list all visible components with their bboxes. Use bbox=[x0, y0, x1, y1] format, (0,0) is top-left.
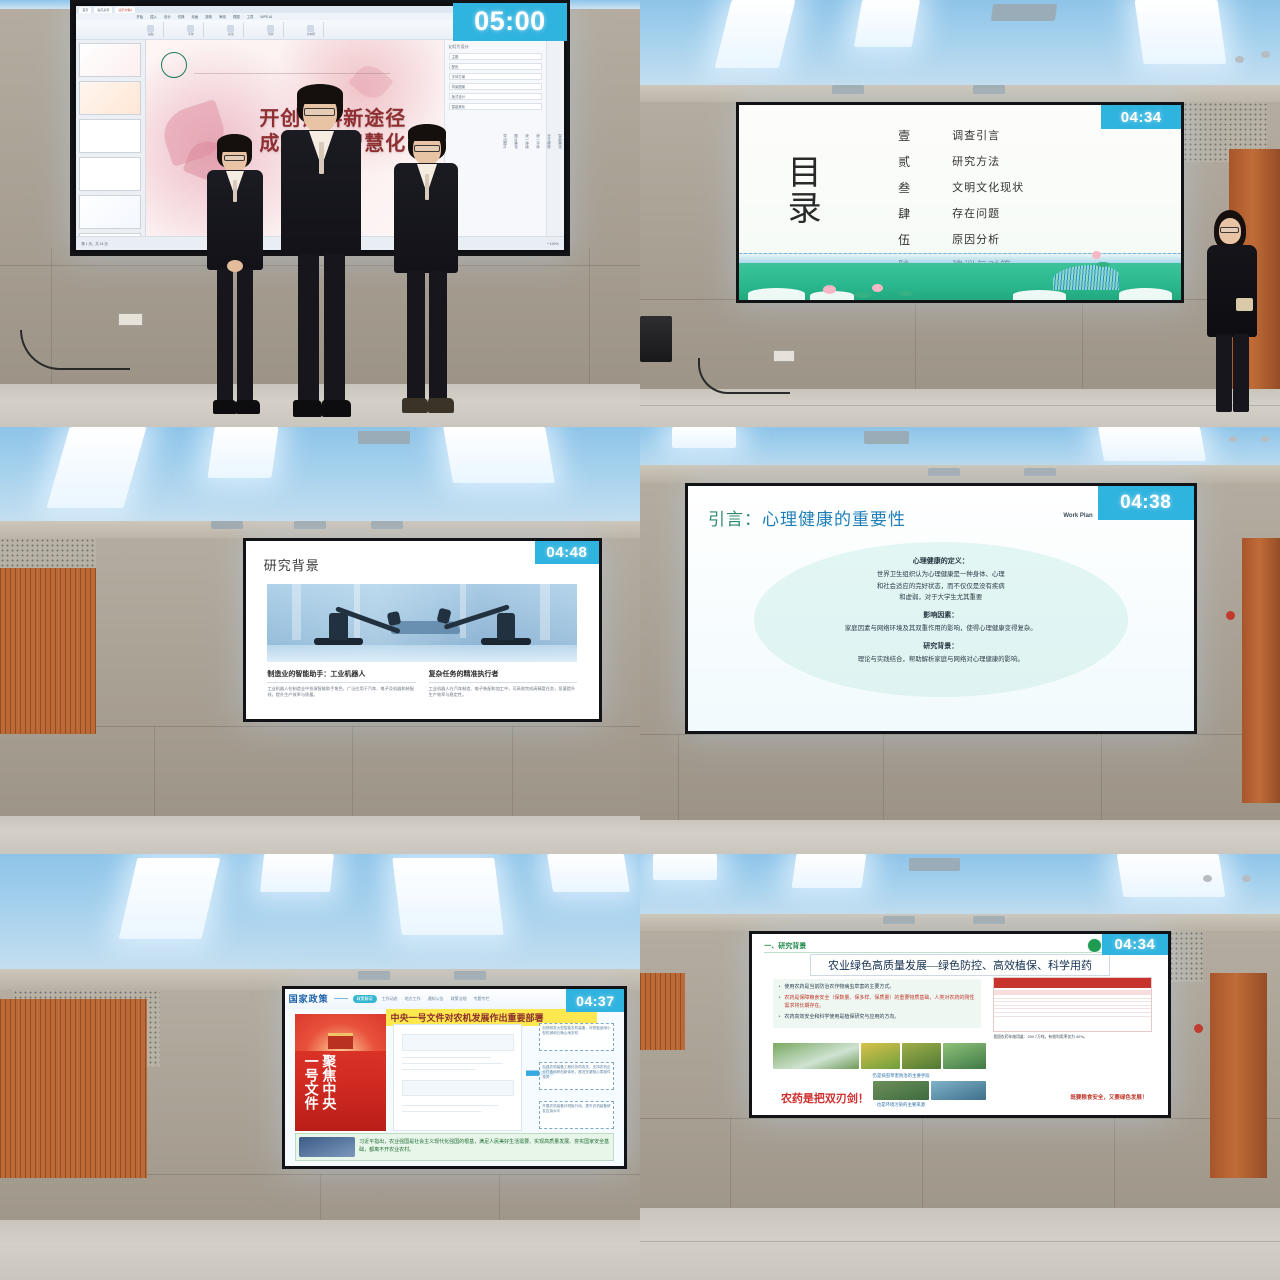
rail-item[interactable]: 导出图片 bbox=[504, 134, 509, 148]
ribbon-tab-2[interactable]: 设计 bbox=[164, 14, 171, 19]
policy-note: 开展农机装备补短板行动，提升农机装备研发应用水平 bbox=[539, 1101, 614, 1129]
mental-health-slide: 引言：心理健康的重要性 Work Plan 2025 心理健康的定义： 世界卫生… bbox=[688, 486, 1194, 732]
countdown-timer: 05:00 bbox=[453, 3, 566, 41]
agenda-text: 原因分析 bbox=[952, 231, 1000, 247]
leader-photo bbox=[299, 1137, 355, 1157]
institute-logo-icon bbox=[1087, 938, 1102, 953]
section-line: 和社会适应的完好状态，而不仅仅是没有疾病 bbox=[738, 581, 1143, 592]
panel-5-national-policy-slide: 国家政策 政策解读 工作动态 地方工作 通知公告 政策法规 专题专栏 中央一号文… bbox=[0, 854, 640, 1280]
agenda-item: 伍 原因分析 bbox=[898, 231, 1137, 248]
agenda-slide: 目录 壹 调查引言 贰 研究方法 叁 文明文化现状 bbox=[739, 105, 1181, 300]
policy-note: 加强农机装备工程化协同攻关，支持农机企业打造科研创新体系，推进关键核心零部件攻关 bbox=[539, 1062, 614, 1090]
ribbon-group-5[interactable]: 文本框 bbox=[298, 22, 324, 38]
slide-thumbnail[interactable] bbox=[79, 81, 141, 115]
shape-icon bbox=[267, 25, 274, 32]
projection-screen: 目录 壹 调查引言 贰 研究方法 叁 文明文化现状 bbox=[736, 102, 1184, 303]
projection-screen: 国家政策 政策解读 工作动态 地方工作 通知公告 政策法规 专题专栏 中央一号文… bbox=[282, 986, 628, 1169]
projection-screen: 研究背景 bbox=[243, 538, 601, 722]
door[interactable] bbox=[1210, 973, 1268, 1177]
presenter-right-side bbox=[1206, 210, 1258, 415]
paper-in-hand bbox=[1236, 298, 1253, 311]
paste-icon bbox=[147, 25, 154, 32]
nav-item: 政策法规 bbox=[451, 996, 467, 1002]
university-seal-icon bbox=[161, 52, 187, 78]
agenda-num: 伍 bbox=[898, 231, 952, 248]
presenter-right bbox=[392, 124, 462, 424]
caption-right: 复杂任务的精准执行者 工业机器人在汽车制造、电子装配和加工中，可高效完成高精度任… bbox=[429, 669, 578, 699]
ppt-tab-2[interactable]: 演示文稿1 bbox=[115, 7, 135, 13]
agenda-heading: 目录 bbox=[788, 156, 824, 227]
caption-left: 制造业的智能助手：工业机器人 工业机器人在制造业中扮演智能助手角色，广泛应用于汽… bbox=[267, 669, 416, 699]
textbox-icon bbox=[307, 25, 314, 32]
agenda-item: 叁 文明文化现状 bbox=[898, 179, 1137, 196]
countdown-timer: 04:38 bbox=[1098, 486, 1194, 520]
countdown-timer: 04:34 bbox=[1101, 105, 1181, 128]
corner-label: Work Plan bbox=[1063, 513, 1092, 519]
slide-title: 农业绿色高质量发展—绿色防控、高效植保、科学用药 bbox=[810, 954, 1110, 976]
glasses-icon bbox=[414, 145, 440, 152]
agenda-text: 文明文化现状 bbox=[952, 179, 1024, 195]
mountain-decor bbox=[1053, 265, 1119, 290]
presenter-center bbox=[281, 84, 361, 427]
ribbon-tab-10[interactable]: WPS AI bbox=[260, 15, 272, 19]
rail-item[interactable]: 全文换肤 bbox=[548, 134, 553, 148]
ribbon-group-1-label: 字体 bbox=[188, 32, 194, 36]
door[interactable] bbox=[1242, 538, 1280, 803]
slogan-text: 既要粮食安全，又要绿色发展！ bbox=[1070, 1093, 1147, 1101]
wall-outlet bbox=[118, 313, 143, 326]
countdown-timer: 04:37 bbox=[566, 989, 624, 1012]
ribbon-group-0[interactable]: 粘贴 bbox=[138, 22, 164, 38]
ribbon-group-0-label: 粘贴 bbox=[148, 32, 154, 36]
slide-body: 心理健康的定义： 世界卫生组织认为心理健康是一种身体、心理 和社会适应的完好状态… bbox=[738, 549, 1143, 665]
projection-screen: 一、研究背景 农业绿色高质量发展—绿色防控、高效植保、科学用药 •使用农药是当前… bbox=[749, 931, 1171, 1118]
wood-wall-panel bbox=[0, 999, 147, 1178]
agenda-item: 壹 调查引言 bbox=[898, 127, 1137, 144]
design-pane-row[interactable]: 版式设计 bbox=[449, 93, 542, 100]
ribbon-tab-5[interactable]: 放映 bbox=[205, 14, 212, 19]
policy-note: 加快研发大型智能农机装备，补短板适用小型机械和丘陵山地农机 bbox=[539, 1023, 614, 1051]
header-nav: 工作动态 地方工作 通知公告 政策法规 专题专栏 bbox=[382, 996, 490, 1002]
bullet-list: •使用农药是当前防治农作物病虫草害的主要方式。 •农药是保障粮食安全（保数量、保… bbox=[773, 979, 981, 1028]
rail-item[interactable]: 智能美化 bbox=[559, 134, 564, 148]
section-heading: 心理健康的定义： bbox=[738, 556, 1143, 566]
design-pane-row[interactable]: 字体方案 bbox=[449, 73, 542, 80]
robot-photo bbox=[267, 584, 577, 662]
slide-thumbnail[interactable] bbox=[79, 43, 141, 77]
agenda-text: 研究方法 bbox=[952, 153, 1000, 169]
bullet-item: •农药是保障粮食安全（保数量、保多样、保质量）的重要物质基础，人类对农药的刚性需… bbox=[779, 994, 975, 1010]
section-line: 理论与实践结合，帮助解析家庭与网络对心理健康的影响。 bbox=[738, 654, 1143, 665]
slide-header: 一、研究背景 bbox=[764, 941, 806, 951]
slide-title-prefix: 引言： bbox=[708, 510, 762, 529]
ribbon-tab-6[interactable]: 审阅 bbox=[219, 14, 226, 19]
data-table-image bbox=[993, 977, 1151, 1031]
panel-6-green-agriculture-slide: 一、研究背景 农业绿色高质量发展—绿色防控、高效植保、科学用药 •使用农药是当前… bbox=[640, 854, 1280, 1280]
ribbon-group-2[interactable]: 段落 bbox=[218, 22, 244, 38]
tiananmen-icon bbox=[328, 1033, 354, 1049]
ribbon-tab-8[interactable]: 工具 bbox=[247, 14, 254, 19]
ribbon-group-2-label: 段落 bbox=[228, 32, 234, 36]
green-agriculture-slide: 一、研究背景 农业绿色高质量发展—绿色防控、高效植保、科学用药 •使用农药是当前… bbox=[752, 934, 1168, 1115]
bullet-item: •农药高效安全和科学使用是植保研究与应用的方向。 bbox=[779, 1013, 975, 1021]
nav-item: 专题专栏 bbox=[474, 996, 490, 1002]
agenda-num: 壹 bbox=[898, 127, 952, 144]
bullet-item: •使用农药是当前防治农作物病虫草害的主要方式。 bbox=[779, 983, 975, 991]
caption-row: 制造业的智能助手：工业机器人 工业机器人在制造业中扮演智能助手角色，广泛应用于汽… bbox=[267, 669, 577, 699]
document-preview bbox=[393, 1024, 522, 1130]
design-pane-row[interactable]: 背景图案 bbox=[449, 83, 542, 90]
photo-grid: 首页 稻壳资源 演示文稿1 开始 插入 设计 切换 动画 放映 审阅 视图 工具 bbox=[0, 0, 1280, 1280]
ribbon-group-1[interactable]: 字体 bbox=[178, 22, 204, 38]
panel-1-team-cover-slide: 首页 稻壳资源 演示文稿1 开始 插入 设计 切换 动画 放映 审阅 视图 工具 bbox=[0, 0, 640, 427]
water-line-decor bbox=[739, 253, 1181, 263]
slide-brand: 国家政策 bbox=[289, 992, 329, 1005]
speaker-cabinet bbox=[640, 316, 672, 362]
bullet-text: 使用农药是当前防治农作物病虫草害的主要方式。 bbox=[784, 983, 894, 991]
emergency-button-icon bbox=[1226, 611, 1235, 620]
pollution-photo bbox=[873, 1081, 929, 1100]
caption-body: 工业机器人在制造业中扮演智能助手角色，广泛应用于汽车、电子及机器和装配线，提升生… bbox=[267, 686, 416, 699]
header-pill: 政策解读 bbox=[353, 995, 377, 1003]
agenda-item: 贰 研究方法 bbox=[898, 153, 1137, 170]
paragraph-icon bbox=[227, 25, 234, 32]
nav-item: 通知公告 bbox=[428, 996, 444, 1002]
ribbon-tab-7[interactable]: 视图 bbox=[233, 14, 240, 19]
policy-footer: 习近平指出，农业强国是社会主义现代化强国的根基，满足人民美好生活需要、实现高质量… bbox=[295, 1133, 614, 1161]
projection-screen: 引言：心理健康的重要性 Work Plan 2025 心理健康的定义： 世界卫生… bbox=[685, 483, 1197, 735]
glasses-icon bbox=[224, 155, 245, 161]
ribbon-group-3-label: 形状 bbox=[268, 32, 274, 36]
poster-text-1: 聚焦中央 bbox=[322, 1054, 337, 1110]
ppt-tab-1[interactable]: 稻壳资源 bbox=[94, 7, 112, 13]
status-zoom[interactable]: + 100% bbox=[547, 242, 559, 246]
status-page: 第 1 页，共 18 页 bbox=[81, 241, 107, 246]
section-heading: 研究背景： bbox=[738, 641, 1143, 651]
agenda-num: 叁 bbox=[898, 179, 952, 196]
ribbon-group-3[interactable]: 形状 bbox=[258, 22, 284, 38]
panel-3-research-background-slide: 研究背景 bbox=[0, 427, 640, 854]
slide-thumbnail[interactable] bbox=[79, 157, 141, 191]
usage-note: 我国农药年施用量：250.7万吨，有效利用率仅为 40%。 bbox=[993, 1035, 1151, 1040]
slide-title: 研究背景 bbox=[264, 555, 320, 574]
ppt-tab-0[interactable]: 首页 bbox=[79, 7, 91, 13]
crop-photo bbox=[943, 1043, 986, 1069]
policy-poster: 一号文件 聚焦中央 bbox=[295, 1014, 387, 1131]
ribbon-group-5-label: 文本框 bbox=[307, 32, 315, 36]
wood-wall-panel bbox=[640, 973, 685, 1050]
agenda-num: 肆 bbox=[898, 205, 952, 222]
national-policy-slide: 国家政策 政策解读 工作动态 地方工作 通知公告 政策法规 专题专栏 中央一号文… bbox=[285, 989, 625, 1166]
caption-body: 工业机器人在汽车制造、电子装配和加工中，可高效完成高精度任务，显著提升生产效率与… bbox=[429, 686, 578, 699]
bullet-text: 农药高效安全和科学使用是植保研究与应用的方向。 bbox=[784, 1013, 899, 1021]
ribbon-tab-0[interactable]: 开始 bbox=[136, 14, 143, 19]
caption-heading: 复杂任务的精准执行者 bbox=[429, 669, 578, 679]
water-photo bbox=[931, 1081, 987, 1100]
countdown-timer: 04:34 bbox=[1102, 934, 1169, 956]
spray-photo bbox=[773, 1043, 860, 1069]
design-pane-row[interactable]: 配色 bbox=[449, 63, 542, 70]
ribbon-tab-1[interactable]: 插入 bbox=[150, 14, 157, 19]
design-pane-title: 幻灯片设计 bbox=[449, 44, 542, 50]
font-icon bbox=[187, 25, 194, 32]
agenda-num: 贰 bbox=[898, 153, 952, 170]
section-heading: 影响因素： bbox=[738, 610, 1143, 620]
rail-item[interactable]: 统一字体 bbox=[537, 134, 542, 148]
agenda-text: 存在问题 bbox=[952, 205, 1000, 221]
photo-strip bbox=[773, 1043, 990, 1069]
research-background-slide: 研究背景 bbox=[246, 541, 598, 719]
nav-item: 地方工作 bbox=[405, 996, 421, 1002]
ribbon-tab-4[interactable]: 动画 bbox=[192, 14, 199, 19]
panel-4-mental-health-slide: 引言：心理健康的重要性 Work Plan 2025 心理健康的定义： 世界卫生… bbox=[640, 427, 1280, 854]
poster-text: 一号文件 聚焦中央 bbox=[304, 1054, 377, 1110]
rail-item[interactable]: 统一排版 bbox=[526, 134, 531, 148]
photo-caption: 仍是病虫草害防治的主要手段 bbox=[873, 1073, 930, 1079]
slide-thumbnail[interactable] bbox=[79, 119, 141, 153]
section-line: 家庭因素与网络环境及其双重作用的影响，使得心理健康变得复杂。 bbox=[738, 623, 1143, 634]
presenter-left bbox=[203, 134, 267, 424]
rail-item[interactable]: 图片美化 bbox=[515, 134, 520, 148]
poster-text-0: 一号文件 bbox=[304, 1054, 319, 1110]
pest-photo bbox=[861, 1043, 900, 1069]
nav-item: 工作动态 bbox=[382, 996, 398, 1002]
wood-wall-panel bbox=[0, 568, 96, 735]
agenda-item: 肆 存在问题 bbox=[898, 205, 1137, 222]
countdown-timer: 04:48 bbox=[535, 541, 598, 564]
design-pane-row[interactable]: 主题 bbox=[449, 53, 542, 60]
glasses-icon bbox=[1220, 227, 1239, 233]
slide-thumbnail-pane[interactable] bbox=[76, 40, 146, 236]
caption-heading: 制造业的智能助手：工业机器人 bbox=[267, 669, 416, 679]
panel-2-agenda-slide: 目录 壹 调查引言 贰 研究方法 叁 文明文化现状 bbox=[640, 0, 1280, 427]
pest-photo bbox=[902, 1043, 941, 1069]
right-rail[interactable]: 智能美化 全文换肤 统一字体 统一排版 图片美化 导出图片 bbox=[546, 40, 564, 236]
warning-text: 农药是把双刃剑！ bbox=[781, 1090, 869, 1106]
slide-thumbnail[interactable] bbox=[79, 195, 141, 229]
agenda-text: 调查引言 bbox=[952, 127, 1000, 143]
design-pane-row[interactable]: 智能美化 bbox=[449, 103, 542, 110]
glasses-icon bbox=[304, 108, 335, 116]
slide-title-main: 心理健康的重要性 bbox=[762, 510, 906, 529]
section-line: 世界卫生组织认为心理健康是一种身体、心理 bbox=[738, 569, 1143, 580]
slide-title: 引言：心理健康的重要性 bbox=[708, 505, 906, 530]
photo-caption: 也是环境污染的主要来源 bbox=[877, 1102, 925, 1108]
ribbon-tab-3[interactable]: 切换 bbox=[178, 14, 185, 19]
footer-quote: 习近平指出，农业强国是社会主义现代化强国的根基，满足人民美好生活需要、实现高质量… bbox=[359, 1139, 610, 1154]
section-line: 和虚弱，对于大学生尤其重要 bbox=[738, 592, 1143, 603]
power-cable bbox=[698, 358, 790, 394]
bullet-text: 农药是保障粮食安全（保数量、保多样、保质量）的重要物质基础，人类对农药的刚性需求… bbox=[784, 994, 974, 1010]
